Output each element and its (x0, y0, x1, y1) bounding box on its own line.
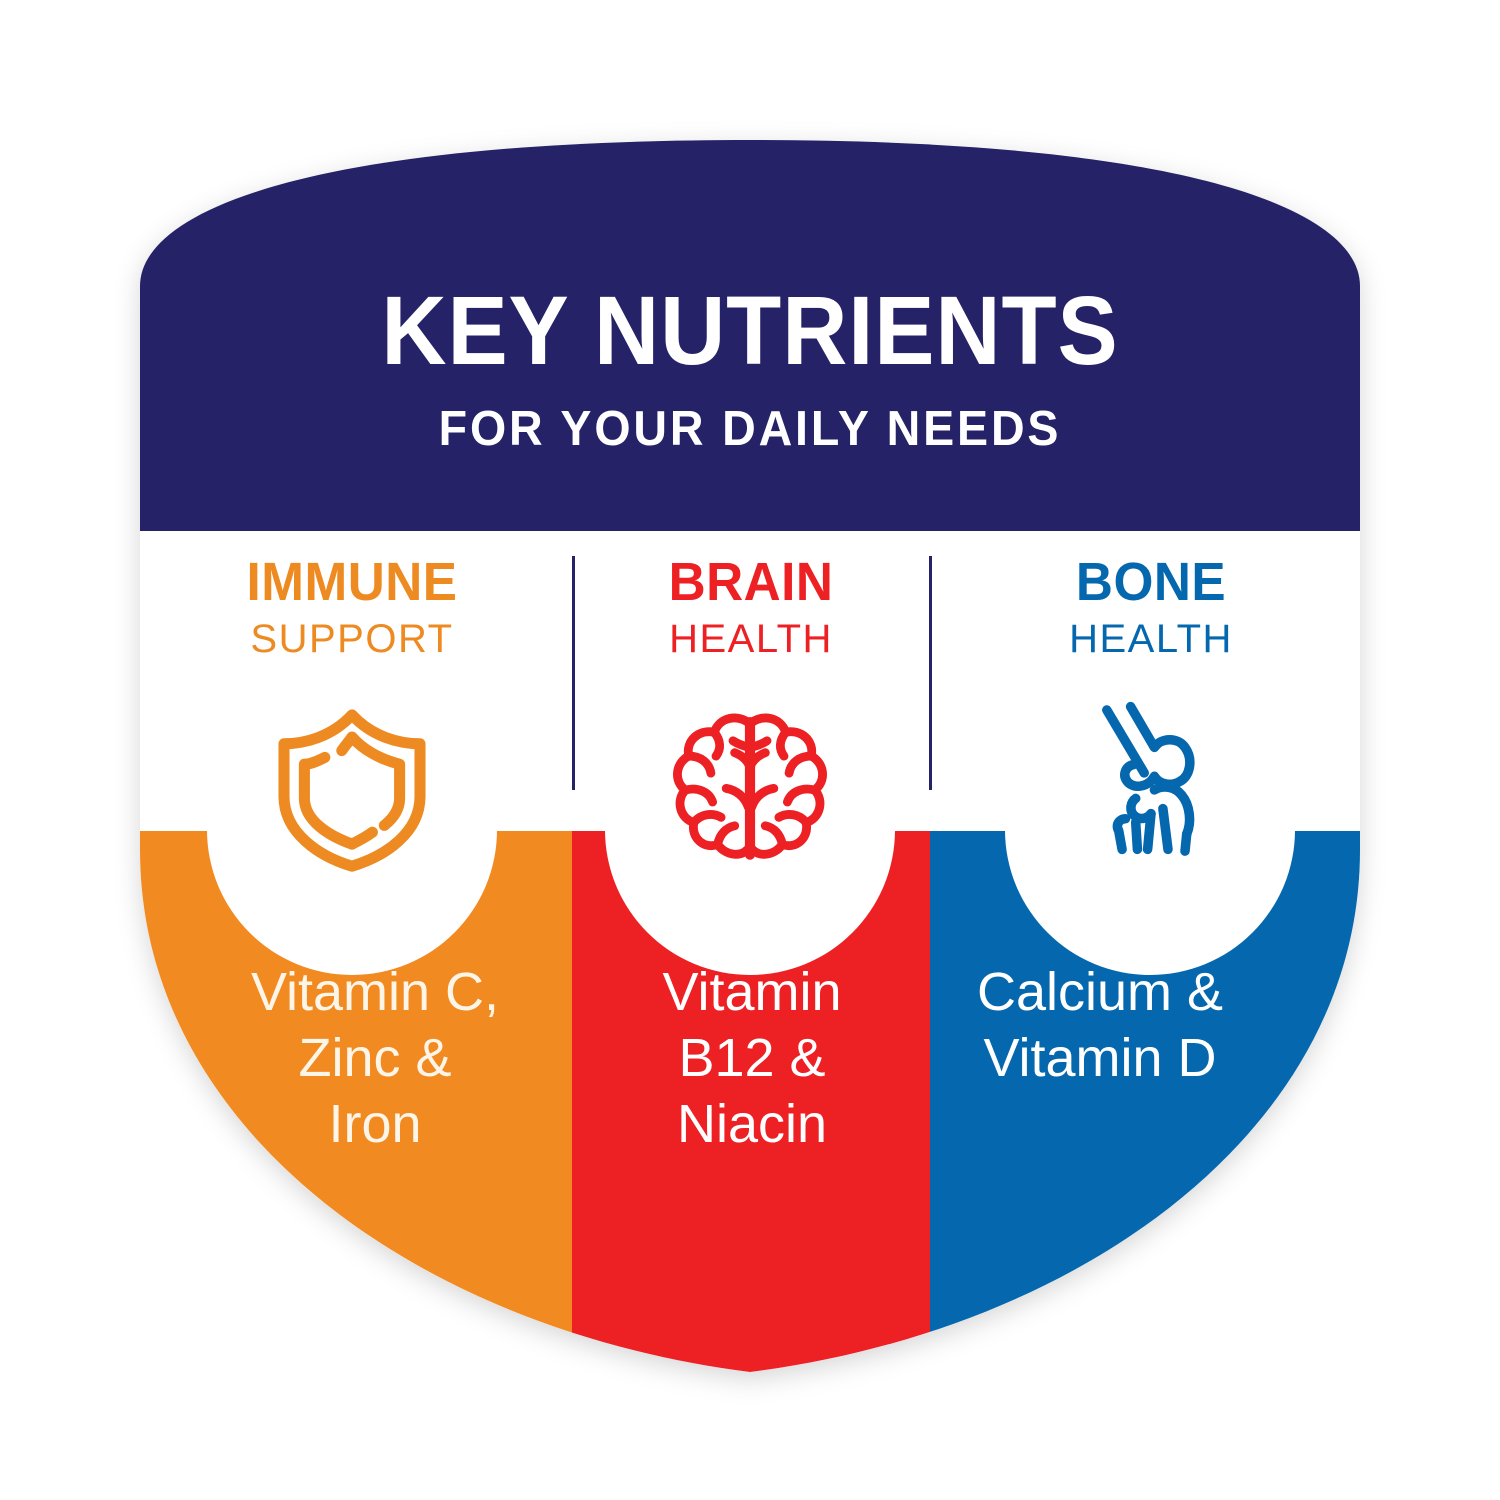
notch-mask-top (0, 600, 1500, 831)
infographic-shield-badge: KEY NUTRIENTS FOR YOUR DAILY NEEDS IMMUN… (0, 0, 1500, 1500)
shield-graphic (0, 0, 1500, 1500)
shield-navy-band (0, 0, 1500, 531)
